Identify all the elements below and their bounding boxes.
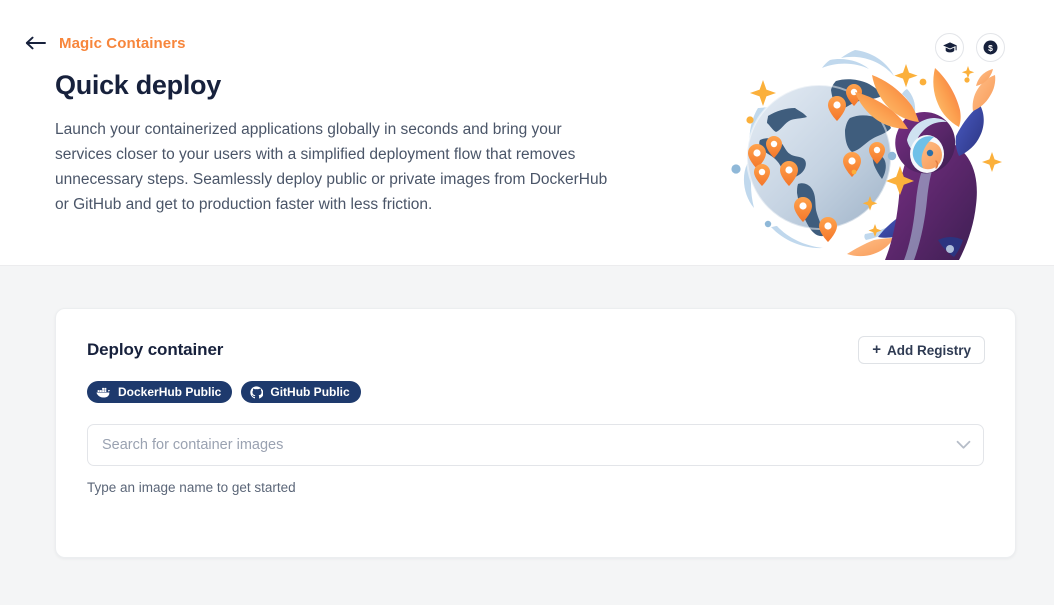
github-icon	[250, 386, 263, 399]
card-header: Deploy container + Add Registry	[56, 309, 1015, 364]
page-description: Launch your containerized applications g…	[55, 117, 621, 217]
svg-text:$: $	[988, 43, 993, 53]
learning-button[interactable]	[935, 33, 964, 62]
docker-whale-icon	[96, 386, 111, 398]
globe-deployment-illustration	[724, 44, 1024, 266]
search-hint: Type an image name to get started	[87, 480, 1015, 495]
page-body: Deploy container + Add Registry	[0, 266, 1054, 605]
add-registry-label: Add Registry	[887, 343, 971, 358]
page-title: Quick deploy	[55, 70, 221, 101]
search-input[interactable]	[87, 424, 984, 466]
chevron-down-icon[interactable]	[956, 441, 971, 450]
hero-section: Magic Containers Quick deploy Launch you…	[0, 0, 1054, 266]
arrow-left-icon[interactable]	[24, 32, 46, 54]
graduation-cap-icon	[942, 40, 958, 56]
hero-actions: $	[935, 33, 1005, 62]
container-image-search	[87, 424, 984, 466]
source-pill-github[interactable]: GitHub Public	[241, 381, 360, 403]
breadcrumb-label[interactable]: Magic Containers	[59, 35, 186, 52]
pricing-button[interactable]: $	[976, 33, 1005, 62]
deploy-container-card: Deploy container + Add Registry	[55, 308, 1016, 558]
card-title: Deploy container	[87, 340, 223, 360]
plus-icon: +	[872, 342, 881, 357]
source-pill-dockerhub[interactable]: DockerHub Public	[87, 381, 232, 403]
add-registry-button[interactable]: + Add Registry	[858, 336, 985, 364]
dollar-sign-icon: $	[982, 39, 999, 56]
source-pill-github-label: GitHub Public	[270, 385, 349, 399]
breadcrumb: Magic Containers	[24, 32, 186, 54]
registry-source-tabs: DockerHub Public GitHub Public	[56, 364, 1015, 403]
source-pill-dockerhub-label: DockerHub Public	[118, 385, 221, 399]
